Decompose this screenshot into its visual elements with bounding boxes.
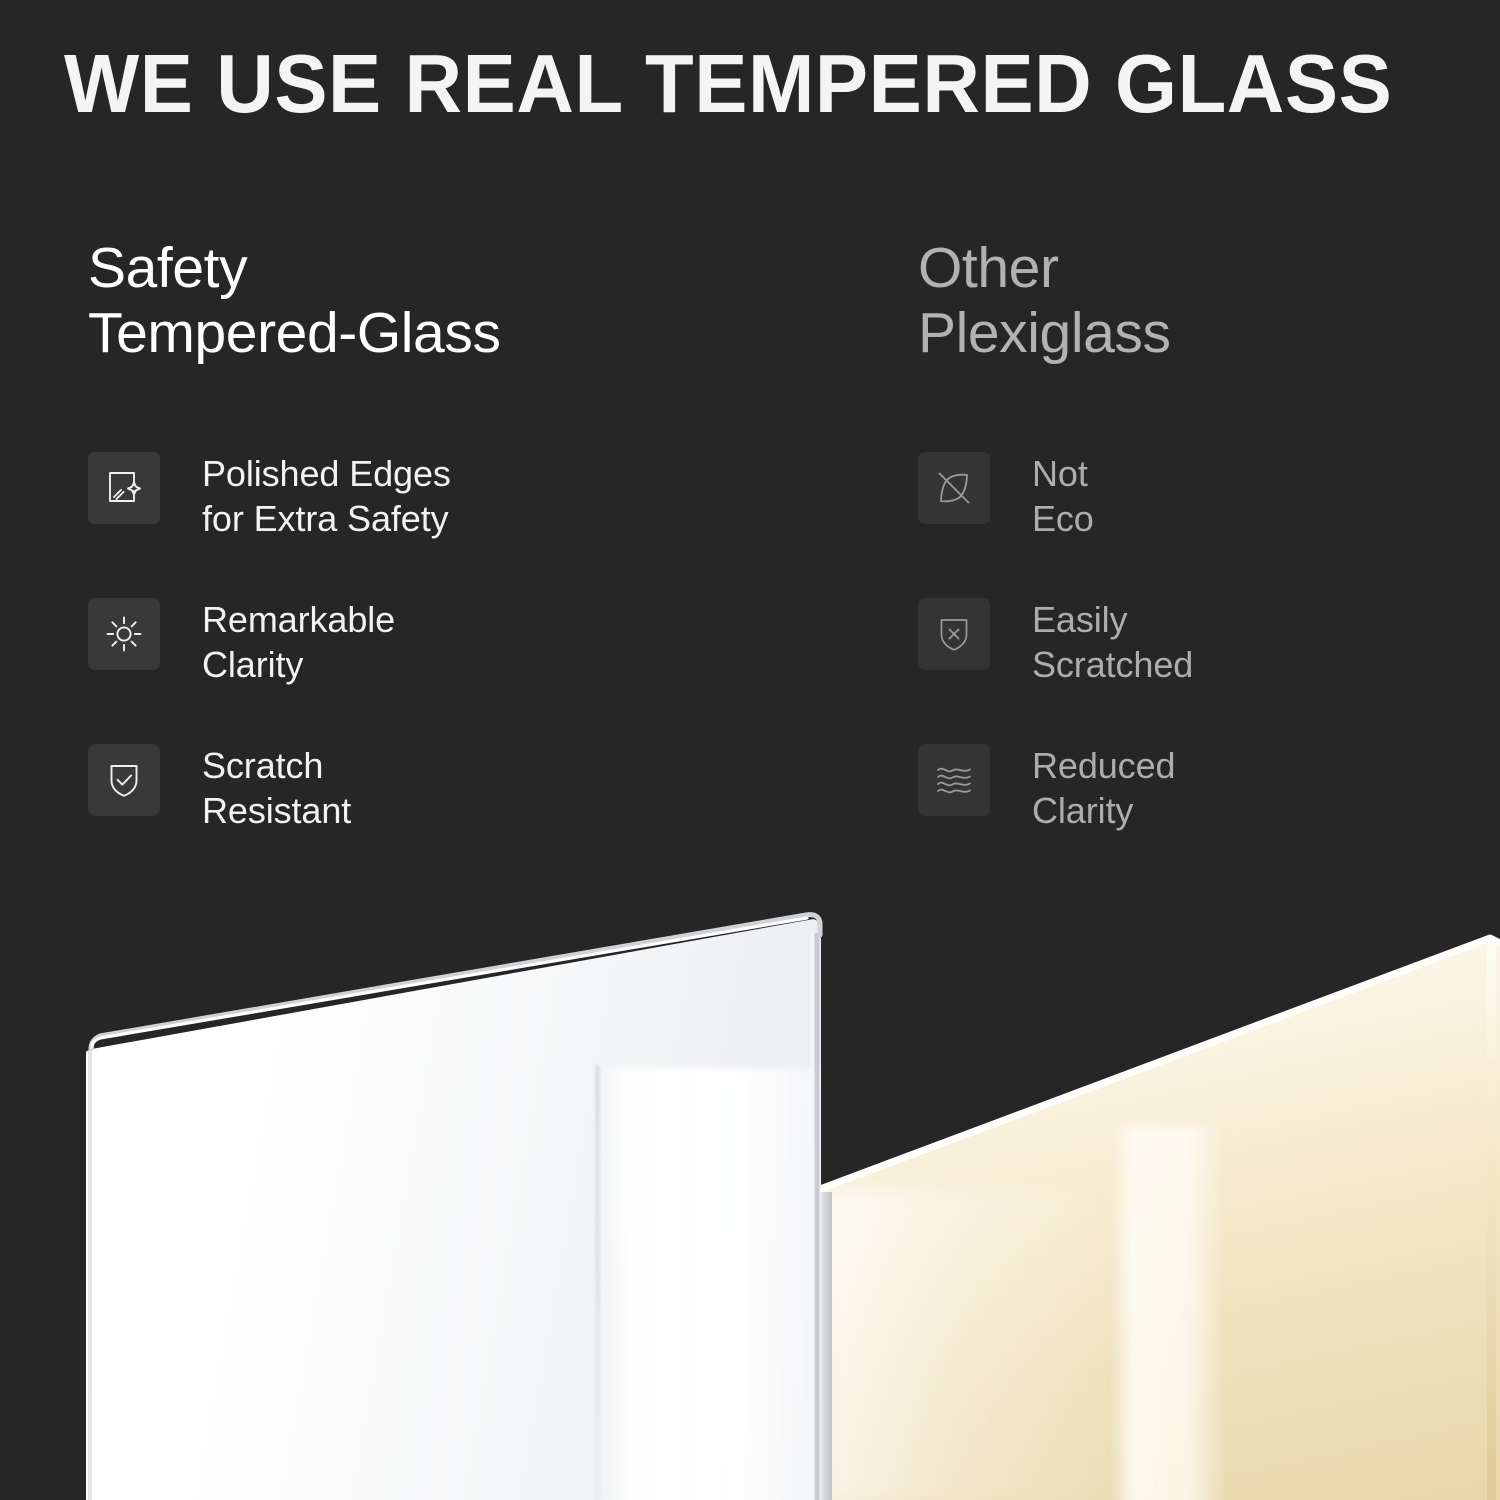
feature-row: Polished Edges for Extra Safety xyxy=(88,448,868,594)
shield-check-icon xyxy=(88,744,160,816)
tempered-glass-panel xyxy=(86,888,821,1500)
plexiglass-panel xyxy=(820,938,1500,1500)
feature-row: Remarkable Clarity xyxy=(88,594,868,740)
leaf-crossed-out-icon xyxy=(918,452,990,524)
feature-row: Not Eco xyxy=(918,448,1478,594)
column-safety-tempered-glass: Safety Tempered-Glass Polished Edges for… xyxy=(88,236,868,886)
feature-label: Scratch Resistant xyxy=(202,740,351,833)
plexiglass-right-edge xyxy=(1487,939,1496,1500)
feature-list-bad: Not Eco Easily Scratched xyxy=(918,448,1478,886)
feature-label: Remarkable Clarity xyxy=(202,594,395,687)
column-title-bad: Other Plexiglass xyxy=(918,236,1478,366)
wavy-lines-icon xyxy=(918,744,990,816)
feature-label: Reduced Clarity xyxy=(1032,740,1175,833)
glass-pane-sparkle-icon xyxy=(88,452,160,524)
comparison-columns: Safety Tempered-Glass Polished Edges for… xyxy=(0,236,1500,876)
feature-list-good: Polished Edges for Extra Safety xyxy=(88,448,868,886)
sun-brightness-icon xyxy=(88,598,160,670)
column-title-good: Safety Tempered-Glass xyxy=(88,236,868,366)
column-other-plexiglass: Other Plexiglass Not Eco xyxy=(918,236,1478,886)
feature-row: Easily Scratched xyxy=(918,594,1478,740)
comparison-infographic: WE USE REAL TEMPERED GLASS Safety Temper… xyxy=(0,0,1500,1500)
feature-label: Not Eco xyxy=(1032,448,1094,541)
feature-label: Easily Scratched xyxy=(1032,594,1193,687)
shield-x-icon xyxy=(918,598,990,670)
page-title: WE USE REAL TEMPERED GLASS xyxy=(64,42,1398,127)
product-comparison-image xyxy=(0,862,1500,1500)
feature-label: Polished Edges for Extra Safety xyxy=(202,448,451,541)
